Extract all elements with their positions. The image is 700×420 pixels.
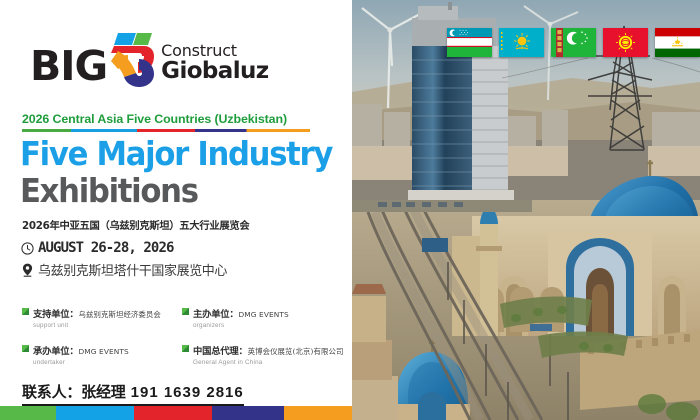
kazakhstan-flag — [499, 28, 544, 57]
contact-line: 联系人：张经理 191 1639 2816 — [22, 381, 244, 406]
logo-construct-text: Construct — [161, 43, 268, 59]
color-bar-purple — [212, 406, 284, 420]
event-venue-row: 乌兹别克斯坦塔什干国家展览中心 — [20, 260, 227, 279]
brand-logo: BIG Construct Giobaluz — [30, 22, 269, 84]
organizer-value: DMG EVENTS — [239, 310, 289, 319]
eyebrow-rainbow-rule — [22, 129, 310, 132]
organizer-bullet-icon — [182, 308, 189, 315]
organizer-item: 主办单位：DMG EVENTSorganizers — [182, 305, 342, 329]
color-bar-blue — [56, 406, 134, 420]
organizer-main-line: 承办单位：DMG EVENTS — [33, 341, 129, 358]
logo-big-text: BIG — [30, 46, 107, 86]
organizer-label-en: support unit — [33, 323, 161, 330]
color-bar-orange — [284, 406, 352, 420]
tajikistan-flag — [655, 28, 700, 57]
organizer-main-line: 支持单位：乌兹别克斯坦经济委员会 — [33, 304, 161, 321]
organizer-value: 乌兹别克斯坦经济委员会 — [79, 310, 161, 319]
location-pin-icon — [20, 263, 34, 277]
eyebrow-text: 2026 Central Asia Five Countries (Uzbeki… — [22, 112, 310, 126]
hero-photo-illustration — [352, 0, 700, 420]
organizer-main-line: 主办单位：DMG EVENTS — [193, 304, 289, 321]
organizer-text: 承办单位：DMG EVENTSundertaker — [33, 342, 129, 366]
uzbekistan-flag — [447, 28, 492, 57]
organizer-value: 英博会仪展览(北京)有限公司 — [248, 347, 344, 356]
organizers-block: 支持单位：乌兹别克斯坦经济委员会support unit主办单位：DMG EVE… — [22, 305, 342, 380]
eyebrow-block: 2026 Central Asia Five Countries (Uzbeki… — [22, 112, 310, 132]
contact-label: 联系人：张经理 — [22, 383, 126, 401]
subtitle-chinese: 2026年中亚五国（乌兹别克斯坦）五大行业展览会 — [22, 217, 249, 232]
organizer-text: 中国总代理：英博会仪展览(北京)有限公司General Agent in Chi… — [193, 342, 343, 366]
info-panel: BIG Construct Giobaluz 2026 Central A — [0, 0, 352, 420]
headline-line-2: Exhibitions — [20, 173, 332, 209]
organizer-label-cn: 主办单位： — [193, 309, 239, 320]
organizer-label-en: organizers — [193, 323, 289, 330]
page-title: Five Major Industry Exhibitions — [20, 136, 356, 209]
clock-icon — [20, 241, 34, 255]
organizer-item: 支持单位：乌兹别克斯坦经济委员会support unit — [22, 305, 182, 329]
kyrgyzstan-flag — [603, 28, 648, 57]
logo-globaluz-text: Giobaluz — [161, 60, 268, 83]
organizer-label-en: General Agent in China — [193, 360, 343, 367]
hero-photo — [352, 0, 700, 420]
event-meta: AUGUST 26-28, 2026 乌兹别克斯坦塔什干国家展览中心 — [20, 240, 227, 283]
organizer-label-cn: 承办单位： — [33, 346, 79, 357]
logo-five-numeral-icon — [108, 31, 155, 87]
logo-wordmark: Construct Giobaluz — [161, 43, 268, 83]
headline-line-1: Five Major Industry — [20, 136, 332, 171]
organizers-grid: 支持单位：乌兹别克斯坦经济委员会support unit主办单位：DMG EVE… — [22, 305, 342, 380]
organizer-main-line: 中国总代理：英博会仪展览(北京)有限公司 — [193, 341, 343, 358]
organizer-item: 中国总代理：英博会仪展览(北京)有限公司General Agent in Chi… — [182, 342, 342, 366]
color-bar-red — [134, 406, 212, 420]
event-venue: 乌兹别克斯坦塔什干国家展览中心 — [38, 260, 227, 279]
organizer-bullet-icon — [22, 308, 29, 315]
bottom-color-bar — [0, 406, 352, 420]
organizer-label-cn: 中国总代理： — [193, 346, 248, 357]
event-date-row: AUGUST 26-28, 2026 — [20, 240, 227, 256]
organizer-label-cn: 支持单位： — [33, 309, 79, 320]
organizer-label-en: undertaker — [33, 360, 129, 367]
organizer-text: 支持单位：乌兹别克斯坦经济委员会support unit — [33, 305, 161, 329]
turkmenistan-flag — [551, 28, 596, 57]
event-date: AUGUST 26-28, 2026 — [38, 240, 174, 256]
organizer-bullet-icon — [22, 345, 29, 352]
organizer-value: DMG EVENTS — [79, 347, 129, 356]
organizer-item: 承办单位：DMG EVENTSundertaker — [22, 342, 182, 366]
organizer-text: 主办单位：DMG EVENTSorganizers — [193, 305, 289, 329]
color-bar-green — [0, 406, 56, 420]
contact-phone[interactable]: 191 1639 2816 — [131, 384, 244, 401]
country-flags — [447, 28, 700, 57]
organizer-bullet-icon — [182, 345, 189, 352]
poster-root: BIG Construct Giobaluz 2026 Central A — [0, 0, 700, 420]
